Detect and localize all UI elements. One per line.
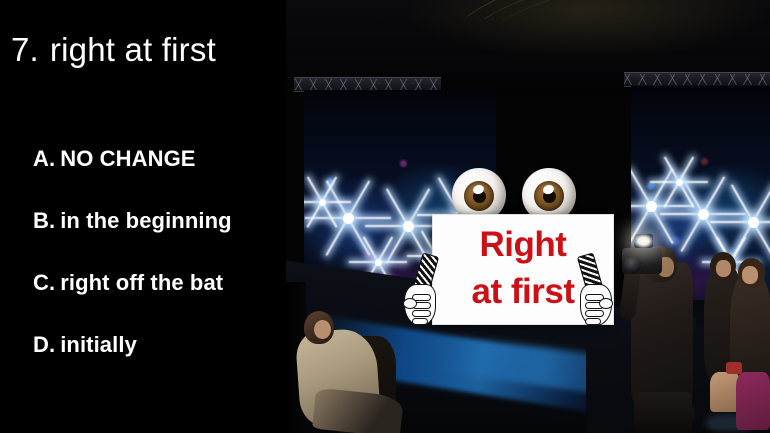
answer-letter-c: C.	[33, 270, 55, 295]
question-text: right at first	[50, 31, 216, 68]
guest-accessory	[726, 362, 742, 374]
answer-text-d: initially	[60, 332, 137, 357]
answer-option-a[interactable]: A.NO CHANGE	[0, 146, 286, 208]
answer-options-list: A.NO CHANGE B.in the beginning C.right o…	[0, 146, 286, 394]
sleeve	[577, 252, 604, 295]
answer-option-b[interactable]: B.in the beginning	[0, 208, 286, 270]
question-number: 7.	[11, 31, 39, 68]
answer-option-d[interactable]: D.initially	[0, 332, 286, 394]
lighting-truss-right	[624, 72, 770, 87]
answer-option-c[interactable]: C.right off the bat	[0, 270, 286, 332]
pupil	[543, 190, 556, 203]
eye-glint	[542, 183, 555, 195]
bokeh-dot	[400, 160, 407, 167]
photographer-body	[631, 262, 693, 402]
answer-letter-d: D.	[33, 332, 55, 357]
iris	[534, 181, 564, 211]
audience-person-face	[314, 320, 331, 339]
answer-letter-b: B.	[33, 208, 55, 233]
eyeball-icon	[522, 168, 576, 222]
answer-text-b: in the beginning	[60, 208, 231, 233]
guest-person-face	[742, 266, 758, 284]
camera-lens-icon	[624, 256, 641, 273]
camera-flash	[634, 234, 653, 248]
answer-text-c: right off the bat	[60, 270, 223, 295]
stage-photograph: Right at first	[286, 0, 770, 433]
quiz-slide: Right at first 7.right at first A.NO CHA…	[0, 0, 770, 433]
page-title: 7.right at first	[11, 31, 216, 69]
guest-person-legs	[736, 372, 770, 430]
question-panel: 7.right at first A.NO CHANGE B.in the be…	[0, 0, 286, 433]
answer-letter-a: A.	[33, 146, 55, 171]
guest-person-face	[716, 260, 731, 277]
photographer-legs	[634, 392, 692, 433]
answer-text-a: NO CHANGE	[60, 146, 195, 171]
bokeh-dot	[701, 158, 708, 165]
